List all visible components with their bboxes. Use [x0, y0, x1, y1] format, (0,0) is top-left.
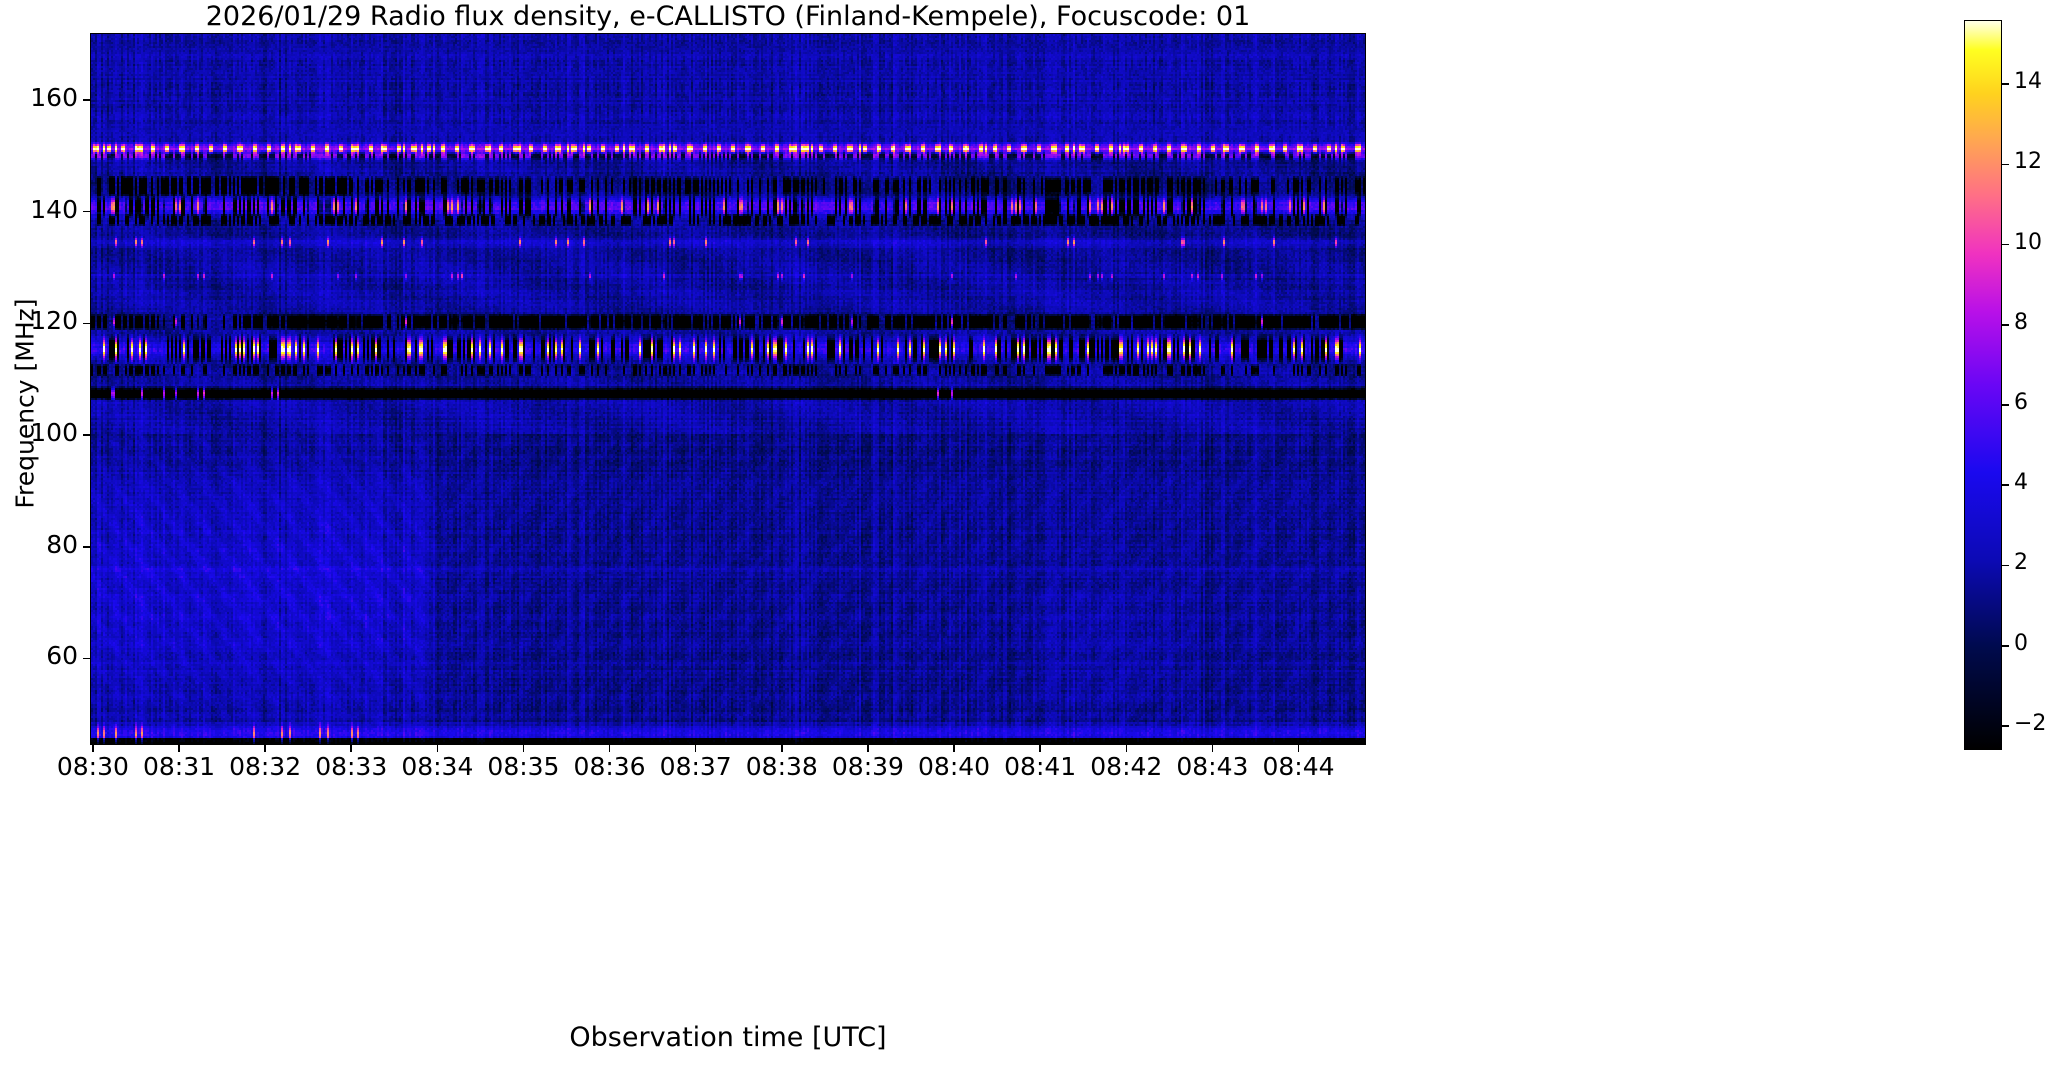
colorbar-tick-mark — [2002, 484, 2009, 486]
colorbar-tick-label: 8 — [2014, 310, 2028, 335]
y-tick-mark — [83, 99, 90, 101]
colorbar-tick-mark — [2002, 645, 2009, 647]
y-tick-label: 140 — [0, 195, 78, 224]
y-tick-mark — [83, 323, 90, 325]
x-tick-mark — [350, 745, 352, 752]
colorbar-tick-mark — [2002, 244, 2009, 246]
x-tick-label: 08:44 — [1244, 752, 1354, 781]
y-tick-label: 160 — [0, 83, 78, 112]
y-tick-mark — [83, 434, 90, 436]
x-tick-mark — [1212, 745, 1214, 752]
x-tick-mark — [178, 745, 180, 752]
x-tick-mark — [92, 745, 94, 752]
y-tick-mark — [83, 211, 90, 213]
y-tick-mark — [83, 658, 90, 660]
colorbar-tick-label: 6 — [2014, 390, 2028, 415]
x-axis-label: Observation time [UTC] — [90, 1022, 1366, 1053]
page-title: 2026/01/29 Radio flux density, e-CALLIST… — [90, 2, 1366, 32]
x-tick-mark — [1298, 745, 1300, 752]
x-tick-mark — [437, 745, 439, 752]
x-tick-mark — [781, 745, 783, 752]
x-tick-mark — [523, 745, 525, 752]
colorbar-tick-label: 12 — [2014, 149, 2042, 174]
colorbar-tick-mark — [2002, 83, 2009, 85]
spectrogram-figure: 2026/01/29 Radio flux density, e-CALLIST… — [0, 0, 2066, 1067]
colorbar-tick-label: 4 — [2014, 470, 2028, 495]
colorbar-tick-mark — [2002, 404, 2009, 406]
x-tick-mark — [867, 745, 869, 752]
x-tick-mark — [695, 745, 697, 752]
x-tick-mark — [609, 745, 611, 752]
colorbar-tick-label: −2 — [2014, 711, 2046, 736]
colorbar-tick-mark — [2002, 725, 2009, 727]
colorbar-tick-label: 0 — [2014, 631, 2028, 656]
x-tick-mark — [953, 745, 955, 752]
y-tick-mark — [83, 546, 90, 548]
colorbar-gradient — [1965, 21, 2001, 749]
spectrogram-image — [91, 34, 1365, 744]
colorbar — [1964, 20, 2002, 750]
colorbar-tick-mark — [2002, 324, 2009, 326]
x-tick-mark — [264, 745, 266, 752]
colorbar-tick-label: 2 — [2014, 550, 2028, 575]
colorbar-tick-mark — [2002, 565, 2009, 567]
colorbar-tick-label: 14 — [2014, 69, 2042, 94]
colorbar-tick-label: 10 — [2014, 230, 2042, 255]
y-axis-label: Frequency [MHz] — [11, 239, 40, 569]
x-tick-mark — [1126, 745, 1128, 752]
y-tick-label: 60 — [0, 641, 78, 670]
spectrogram-plot-area — [90, 33, 1366, 745]
x-tick-mark — [1039, 745, 1041, 752]
colorbar-tick-mark — [2002, 164, 2009, 166]
